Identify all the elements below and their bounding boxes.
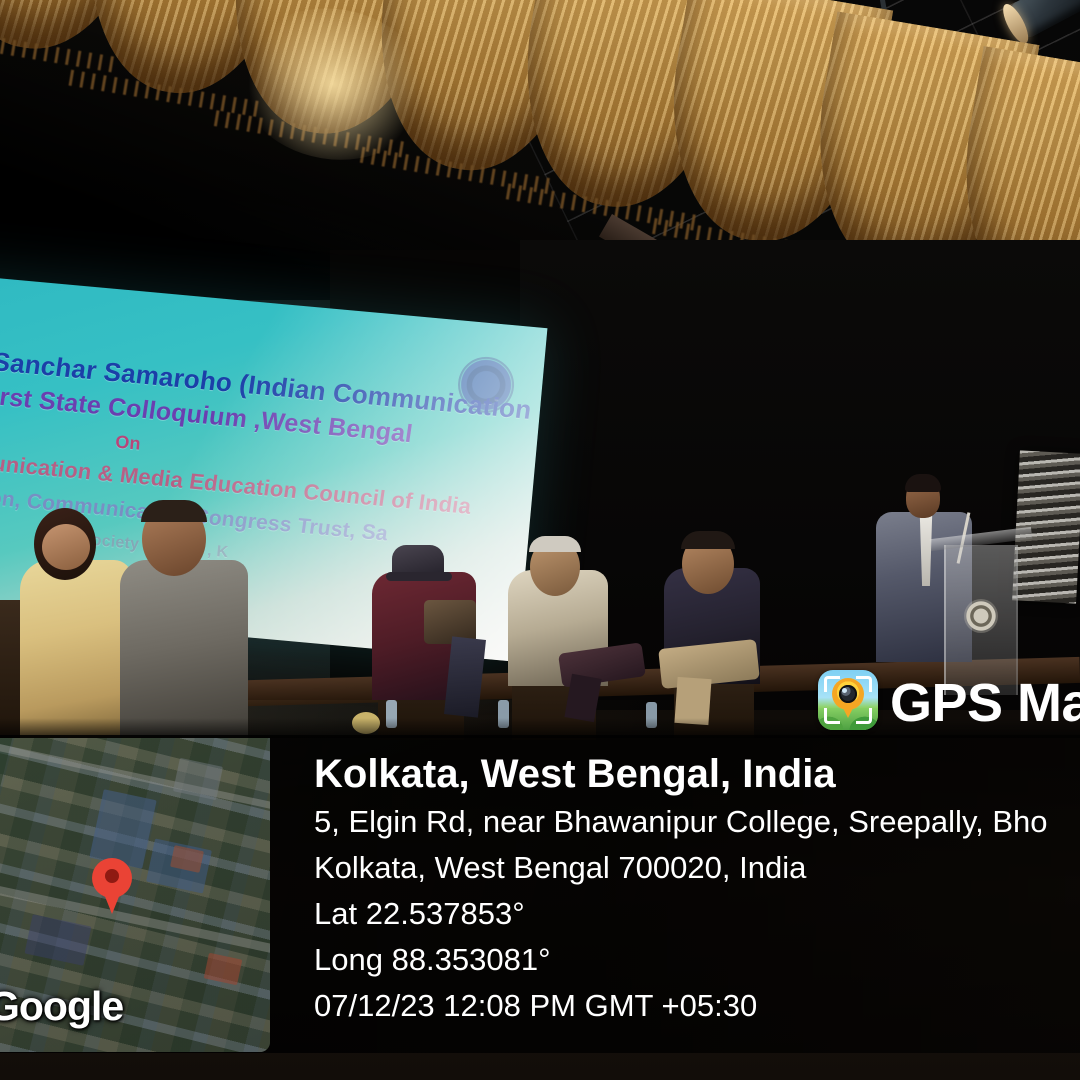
podium-seal: [964, 599, 998, 633]
timestamp-value: 07/12/23 12:08 PM GMT +05:30: [314, 984, 1080, 1028]
speaker-hair: [905, 474, 941, 492]
map-pin-icon: [92, 858, 132, 914]
address-line-1: 5, Elgin Rd, near Bhawanipur College, Sr…: [314, 800, 1080, 844]
location-title: Kolkata, West Bengal, India: [314, 752, 1080, 798]
gps-stamp-text: Kolkata, West Bengal, India 5, Elgin Rd,…: [314, 752, 1080, 1028]
longitude-value: Long 88.353081°: [314, 938, 1080, 982]
screenshot-root: haratiya Sanchar Samaroho (Indian Commun…: [0, 0, 1080, 1080]
map-thumbnail[interactable]: Google: [0, 738, 270, 1052]
latitude-value: Lat 22.537853°: [314, 892, 1080, 936]
google-watermark: Google: [0, 983, 123, 1030]
gps-map-camera-logo-icon: [818, 670, 878, 730]
address-line-2: Kolkata, West Bengal 700020, India: [314, 846, 1080, 890]
gps-brand-label: GPS Ma: [890, 672, 1080, 734]
